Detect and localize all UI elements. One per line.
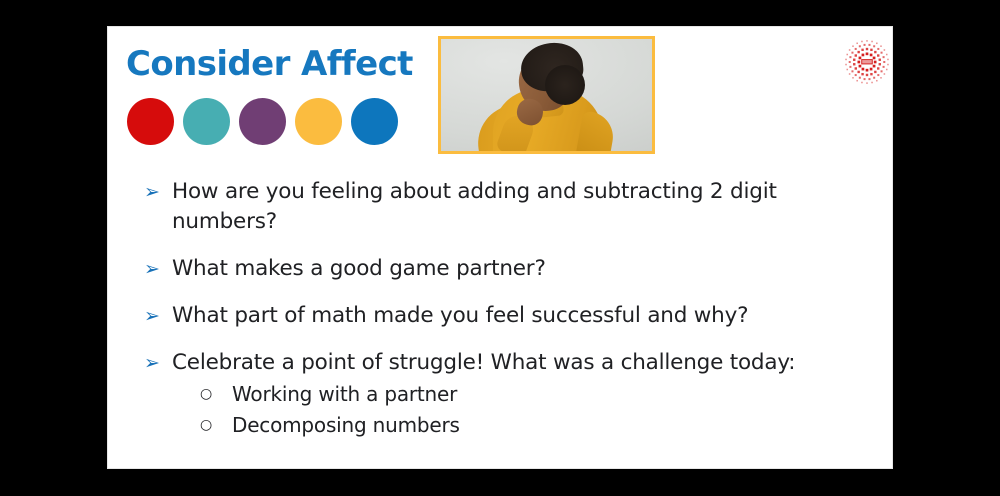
dot-yellow	[295, 98, 342, 145]
bullet-text: What makes a good game partner?	[172, 254, 874, 284]
color-dot-row	[127, 98, 398, 145]
circle-bullet-icon: ○	[200, 379, 232, 409]
red-sunburst-logo	[843, 38, 891, 86]
photo-canvas	[441, 39, 652, 151]
arrow-bullet-icon: ➢	[134, 348, 172, 378]
list-item: ➢ Celebrate a point of struggle! What wa…	[134, 348, 874, 440]
list-item: ➢ What makes a good game partner?	[134, 254, 874, 284]
sub-bullet-text: Decomposing numbers	[232, 410, 874, 440]
dot-blue	[351, 98, 398, 145]
page-title: Consider Affect	[126, 44, 413, 84]
bullet-text: How are you feeling about adding and sub…	[172, 177, 874, 237]
bullet-list: ➢ How are you feeling about adding and s…	[134, 177, 874, 457]
figure-hair-back-shape	[545, 65, 585, 105]
arrow-bullet-icon: ➢	[134, 301, 172, 331]
sub-bullet-list: ○ Working with a partner ○ Decomposing n…	[172, 379, 874, 440]
dot-red	[127, 98, 174, 145]
list-item: ➢ What part of math made you feel succes…	[134, 301, 874, 331]
bullet-text-group: Celebrate a point of struggle! What was …	[172, 348, 874, 440]
sub-list-item: ○ Decomposing numbers	[172, 410, 874, 440]
list-item: ➢ How are you feeling about adding and s…	[134, 177, 874, 237]
dot-purple	[239, 98, 286, 145]
dot-teal	[183, 98, 230, 145]
arrow-bullet-icon: ➢	[134, 177, 172, 207]
presentation-slide: Consider Affect	[108, 27, 892, 468]
bullet-text: What part of math made you feel successf…	[172, 301, 874, 331]
figure-arm-right-shape	[575, 110, 617, 154]
screen-root: Consider Affect	[0, 0, 1000, 496]
sub-list-item: ○ Working with a partner	[172, 379, 874, 409]
circle-bullet-icon: ○	[200, 410, 232, 440]
bullet-text: Celebrate a point of struggle! What was …	[172, 350, 795, 375]
thinking-child-photo	[438, 36, 655, 154]
arrow-bullet-icon: ➢	[134, 254, 172, 284]
sub-bullet-text: Working with a partner	[232, 379, 874, 409]
